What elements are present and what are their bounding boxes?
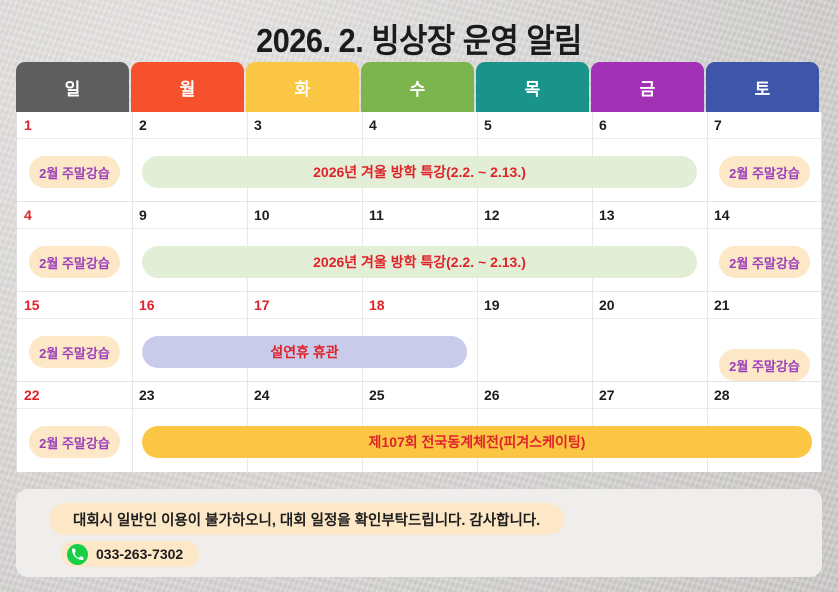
calendar-event-lesson[interactable]: 2월 주말강습: [29, 336, 120, 368]
column-divider: [707, 202, 708, 291]
day-number[interactable]: 4: [369, 115, 377, 135]
calendar-event-lesson[interactable]: 2월 주말강습: [719, 156, 810, 188]
calendar-week-row: 4910111213142월 주말강습2026년 겨울 방학 특강(2.2. ~…: [17, 202, 821, 292]
day-number[interactable]: 15: [24, 295, 40, 315]
weekday-header-2: 화: [246, 62, 359, 112]
day-number[interactable]: 3: [254, 115, 262, 135]
calendar-event-lesson[interactable]: 2월 주말강습: [719, 349, 810, 381]
calendar-event-lesson[interactable]: 2월 주말강습: [719, 246, 810, 278]
weekday-header-6: 토: [706, 62, 819, 112]
weekday-header-0: 일: [16, 62, 129, 112]
date-divider: [17, 138, 821, 139]
notice-text: 대회시 일반인 이용이 불가하오니, 대회 일정을 확인부탁드립니다. 감사합니…: [49, 503, 564, 535]
day-number[interactable]: 1: [24, 115, 32, 135]
day-number[interactable]: 22: [24, 385, 40, 405]
day-number[interactable]: 27: [599, 385, 615, 405]
calendar-event-lesson[interactable]: 2월 주말강습: [29, 156, 120, 188]
calendar: 일월화수목금토 12345672월 주말강습2026년 겨울 방학 특강(2.2…: [16, 62, 822, 472]
day-number[interactable]: 11: [369, 205, 384, 225]
column-divider: [132, 112, 133, 201]
day-number[interactable]: 19: [484, 295, 500, 315]
calendar-event-closed[interactable]: 설연휴 휴관: [142, 336, 467, 368]
phone-number: 033-263-7302: [96, 546, 183, 562]
calendar-event-camp[interactable]: 2026년 겨울 방학 특강(2.2. ~ 2.13.): [142, 246, 697, 278]
weekday-label: 수: [410, 75, 426, 100]
calendar-week-row: 12345672월 주말강습2026년 겨울 방학 특강(2.2. ~ 2.13…: [17, 112, 821, 202]
calendar-week-row: 222324252627282월 주말강습제107회 전국동계체전(피겨스케이팅…: [17, 382, 821, 472]
column-divider: [592, 292, 593, 381]
day-number[interactable]: 10: [254, 205, 270, 225]
column-divider: [132, 202, 133, 291]
weekday-label: 화: [295, 75, 311, 100]
column-divider: [477, 292, 478, 381]
phone-icon: [67, 544, 88, 565]
date-divider: [17, 408, 821, 409]
day-number[interactable]: 9: [139, 205, 147, 225]
weekday-header-3: 수: [361, 62, 474, 112]
date-divider: [17, 318, 821, 319]
day-number[interactable]: 17: [254, 295, 270, 315]
page-title: 2026. 2. 빙상장 운영 알림: [29, 14, 808, 62]
footer-panel: 대회시 일반인 이용이 불가하오니, 대회 일정을 확인부탁드립니다. 감사합니…: [16, 489, 822, 577]
weekday-header-row: 일월화수목금토: [16, 62, 822, 112]
calendar-event-camp[interactable]: 2026년 겨울 방학 특강(2.2. ~ 2.13.): [142, 156, 697, 188]
weekday-header-4: 목: [476, 62, 589, 112]
weekday-label: 월: [180, 75, 196, 100]
calendar-week-row: 151617181920212월 주말강습설연휴 휴관2월 주말강습: [17, 292, 821, 382]
day-number[interactable]: 14: [714, 205, 730, 225]
day-number[interactable]: 23: [139, 385, 155, 405]
calendar-grid: 12345672월 주말강습2026년 겨울 방학 특강(2.2. ~ 2.13…: [16, 112, 822, 472]
day-number[interactable]: 25: [369, 385, 385, 405]
weekday-label: 목: [525, 75, 541, 100]
weekday-label: 금: [640, 75, 656, 100]
weekday-header-5: 금: [591, 62, 704, 112]
day-number[interactable]: 16: [139, 295, 155, 315]
day-number[interactable]: 28: [714, 385, 730, 405]
weekday-label: 토: [755, 75, 771, 100]
phone-pill[interactable]: 033-263-7302: [61, 541, 199, 567]
day-number[interactable]: 18: [369, 295, 385, 315]
day-number[interactable]: 5: [484, 115, 492, 135]
day-number[interactable]: 7: [714, 115, 722, 135]
day-number[interactable]: 6: [599, 115, 607, 135]
day-number[interactable]: 13: [599, 205, 615, 225]
calendar-event-lesson[interactable]: 2월 주말강습: [29, 426, 120, 458]
day-number[interactable]: 20: [599, 295, 615, 315]
weekday-label: 일: [65, 75, 81, 100]
column-divider: [707, 292, 708, 381]
column-divider: [707, 112, 708, 201]
day-number[interactable]: 26: [484, 385, 500, 405]
date-divider: [17, 228, 821, 229]
column-divider: [132, 292, 133, 381]
column-divider: [132, 382, 133, 472]
day-number[interactable]: 21: [714, 295, 730, 315]
calendar-event-meet[interactable]: 제107회 전국동계체전(피겨스케이팅): [142, 426, 812, 458]
calendar-event-lesson[interactable]: 2월 주말강습: [29, 246, 120, 278]
day-number[interactable]: 2: [139, 115, 147, 135]
day-number[interactable]: 4: [24, 205, 32, 225]
day-number[interactable]: 24: [254, 385, 270, 405]
day-number[interactable]: 12: [484, 205, 500, 225]
weekday-header-1: 월: [131, 62, 244, 112]
